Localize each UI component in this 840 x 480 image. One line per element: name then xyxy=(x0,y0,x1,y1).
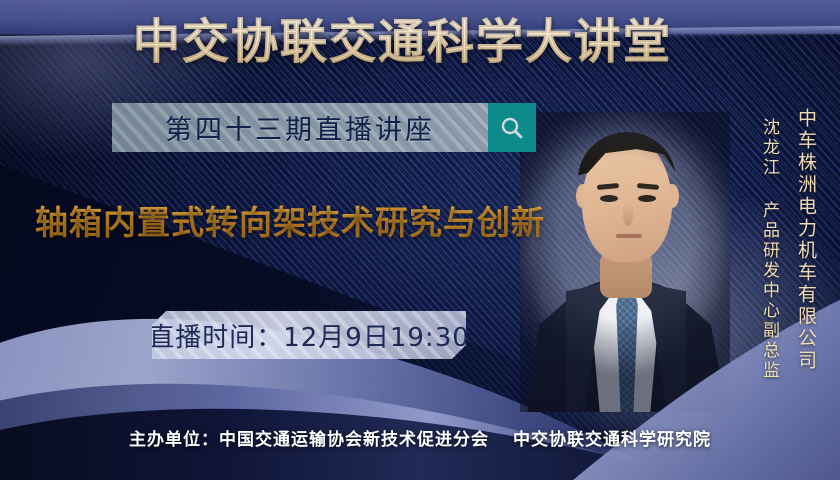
episode-banner: 第四十三期直播讲座 xyxy=(112,103,536,152)
portrait-vignette xyxy=(520,112,730,412)
broadcast-time-banner: 直播时间：12月9日19:30 xyxy=(152,311,466,359)
lecture-topic: 轴箱内置式转向架技术研究与创新 xyxy=(35,196,545,244)
speaker-portrait xyxy=(520,112,730,412)
speaker-name-title: 沈龙江 产品研发中心副总监 xyxy=(757,118,782,381)
portrait-photo xyxy=(520,112,730,412)
live-lecture-poster: 中交协联交通科学大讲堂 第四十三期直播讲座 轴箱内置式转向架技术研究与创新 直播… xyxy=(0,0,840,480)
footer-co-organizer: 中交协联交通科学研究院 xyxy=(513,430,711,450)
footer: 主办单位：中国交通运输协会新技术促进分会中交协联交通科学研究院 xyxy=(0,425,840,450)
page-title: 中交协联交通科学大讲堂 xyxy=(133,16,672,70)
episode-banner-fill: 第四十三期直播讲座 xyxy=(112,103,488,152)
footer-organizer: 主办单位：中国交通运输协会新技术促进分会 xyxy=(129,430,489,450)
broadcast-time-text: 直播时间：12月9日19:30 xyxy=(152,317,466,354)
speaker-company: 中车株洲电力机车有限公司 xyxy=(793,108,820,372)
search-icon xyxy=(499,115,525,141)
search-button[interactable] xyxy=(488,103,536,152)
episode-label: 第四十三期直播讲座 xyxy=(165,108,435,147)
